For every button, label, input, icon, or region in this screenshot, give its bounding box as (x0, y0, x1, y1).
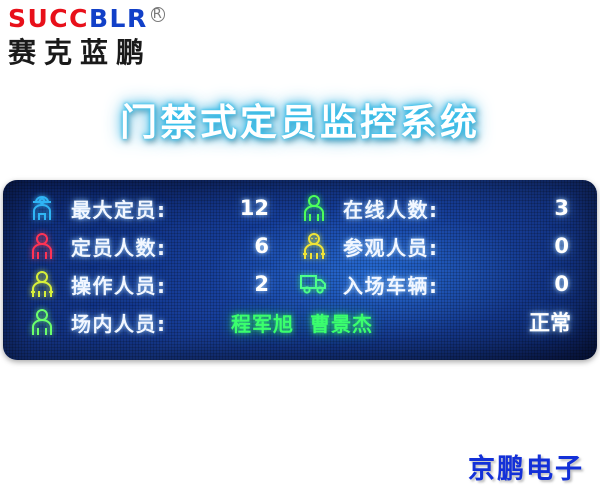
stat-label: 在线人数: (343, 194, 439, 223)
stat-operator-count: 操作人员: 2 (3, 265, 293, 303)
led-display-panel: 最大定员: 12 在线人数: 3 (3, 180, 597, 360)
person-icon (25, 230, 59, 262)
table-row-occupants: 场内人员: 程军旭 曹景杰 正常 (3, 303, 597, 341)
stat-value: 12 (240, 196, 293, 220)
status-badge: 正常 (529, 303, 571, 341)
person-icon (297, 192, 331, 224)
stat-label: 参观人员: (343, 232, 439, 261)
table-row: 操作人员: 2 入场车辆: 0 (3, 265, 597, 303)
logo-succ-text: SUCC (8, 4, 89, 33)
list-item: 程军旭 (231, 308, 294, 337)
registered-trademark-icon: R (151, 7, 166, 22)
page-title: 门禁式定员监控系统 (0, 92, 600, 146)
stat-label: 场内人员: (71, 308, 167, 337)
stat-value: 6 (254, 234, 293, 258)
stat-label: 定员人数: (71, 232, 167, 261)
company-logo: SUCCBLRR 赛克蓝鹏 (8, 4, 228, 76)
logo-latin-text: SUCCBLRR (8, 4, 228, 34)
stat-max-capacity: 最大定员: 12 (3, 189, 293, 227)
logo-blr-text: BLR (89, 4, 148, 33)
stat-vehicle-count: 入场车辆: 0 (293, 265, 597, 303)
stat-value: 2 (254, 272, 293, 296)
person-icon (25, 306, 59, 338)
stat-online-count: 在线人数: 3 (293, 189, 597, 227)
person-visitor-icon (297, 230, 331, 262)
logo-chinese-text: 赛克蓝鹏 (8, 36, 228, 70)
person-worker-icon (25, 268, 59, 300)
stat-value: 0 (554, 234, 597, 258)
stat-value: 3 (554, 196, 597, 220)
stat-visitor-count: 参观人员: 0 (293, 227, 597, 265)
table-row: 定员人数: 6 参观人员: (3, 227, 597, 265)
stat-label: 操作人员: (71, 270, 167, 299)
list-item: 曹景杰 (310, 308, 373, 337)
stat-registered-count: 定员人数: 6 (3, 227, 293, 265)
occupant-name-list: 程军旭 曹景杰 (231, 303, 389, 341)
truck-icon (297, 268, 331, 300)
person-cap-icon (25, 192, 59, 224)
stat-label: 最大定员: (71, 194, 167, 223)
led-rows-container: 最大定员: 12 在线人数: 3 (3, 189, 597, 341)
stat-label: 入场车辆: (343, 270, 439, 299)
table-row: 最大定员: 12 在线人数: 3 (3, 189, 597, 227)
footer-company-name: 京鹏电子 (468, 447, 584, 486)
stat-value: 0 (554, 272, 597, 296)
